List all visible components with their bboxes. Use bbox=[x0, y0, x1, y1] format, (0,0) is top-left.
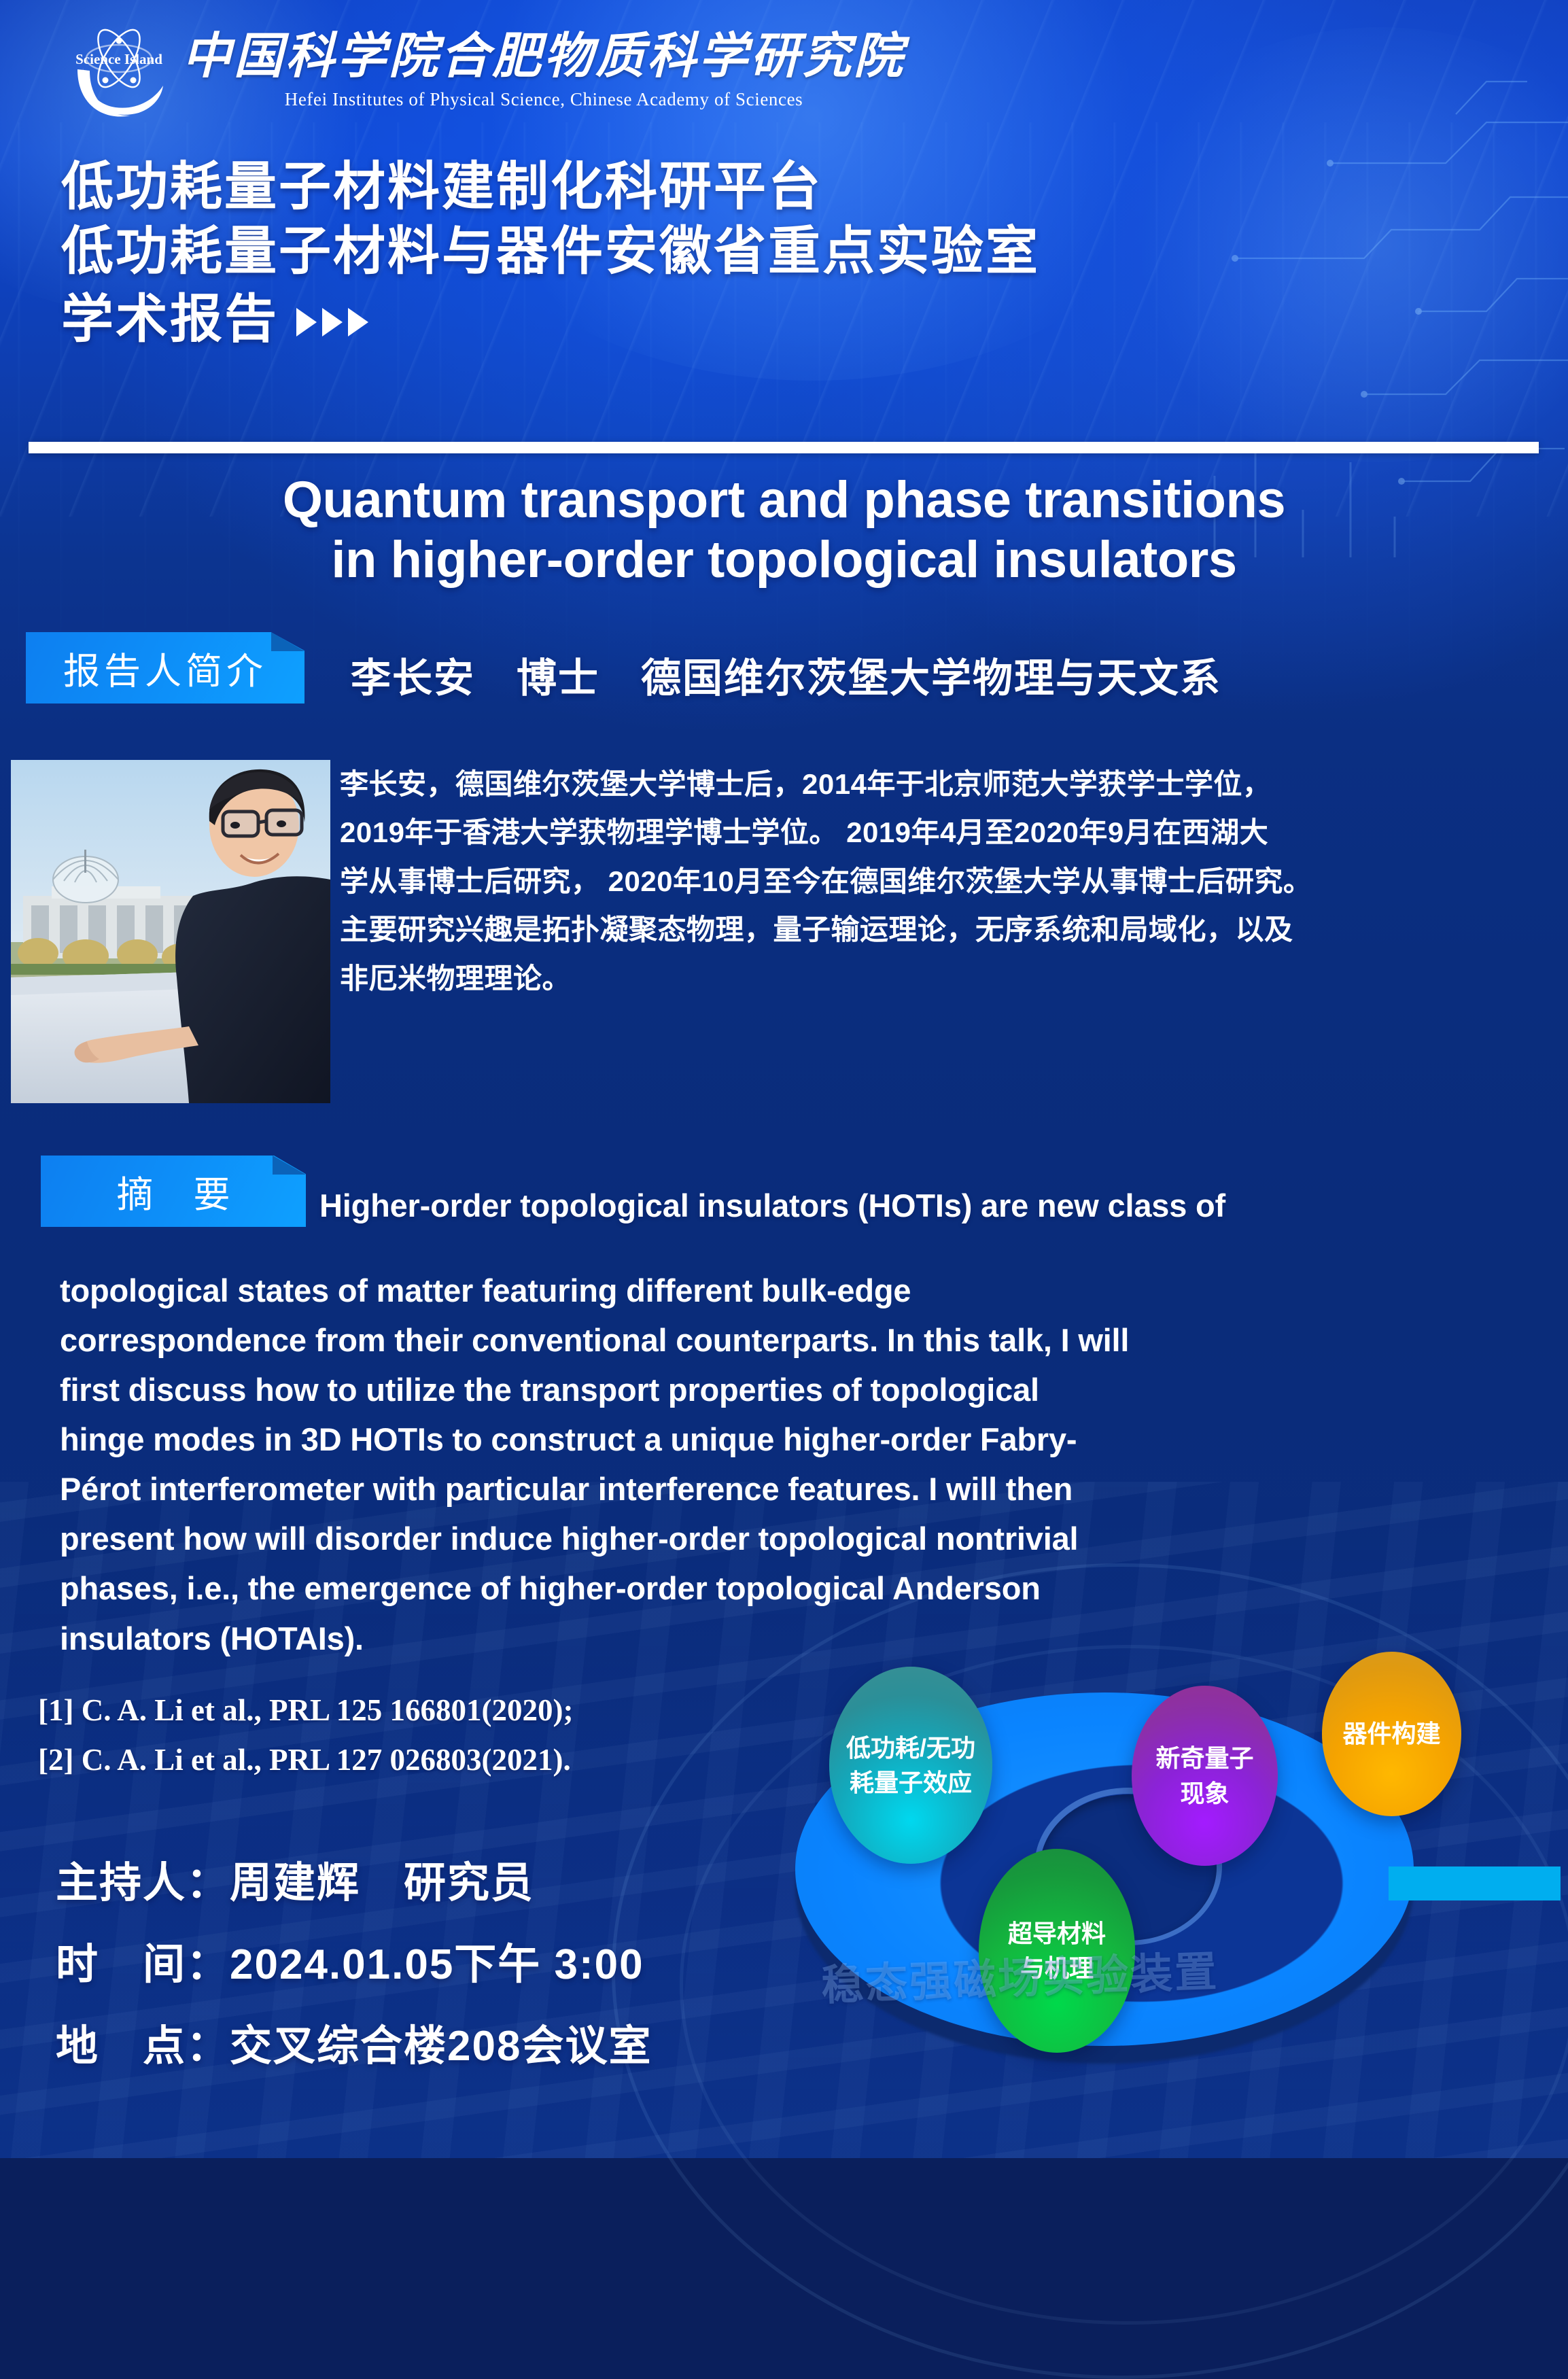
speaker-bio-text: 李长安，德国维尔茨堡大学博士后，2014年于北京师范大学获学士学位， 2019年… bbox=[340, 760, 1458, 1003]
header-divider bbox=[29, 442, 1539, 453]
bio-line-4: 主要研究兴趣是拓扑凝聚态物理，量子输运理论，无序系统和局域化，以及 bbox=[340, 905, 1458, 954]
bubble-teal-line-1: 低功耗/无功 bbox=[846, 1731, 975, 1765]
bubble-teal-line-2: 耗量子效应 bbox=[850, 1765, 972, 1800]
abstract-line-1-text: topological states of matter featuring d… bbox=[60, 1266, 911, 1315]
bubble-purple-line-1: 新奇量子 bbox=[1155, 1741, 1253, 1775]
accent-bar bbox=[1389, 1866, 1561, 1900]
talk-title: Quantum transport and phase transitions … bbox=[0, 470, 1568, 590]
event-host: 主持人：周建辉 研究员 bbox=[56, 1862, 939, 1905]
event-info: 主持人：周建辉 研究员 时 间：2024.01.05下午 3:00 地 点：交叉… bbox=[56, 1862, 939, 2107]
bio-line-5: 非厄米物理理论。 bbox=[340, 954, 1458, 1003]
header-line-3: 学术报告 bbox=[61, 288, 279, 352]
abstract-line-5: Pérot interferometer with particular int… bbox=[60, 1464, 1541, 1514]
header-line-1: 低功耗量子材料建制化科研平台 bbox=[61, 155, 1502, 220]
event-place: 地 点：交叉综合楼208会议室 bbox=[56, 2026, 939, 2068]
abstract-line-3: first discuss how to utilize the transpo… bbox=[60, 1365, 1541, 1414]
institute-name-cn: 中国科学院合肥物质科学研究院 bbox=[182, 31, 905, 83]
speaker-photo bbox=[11, 760, 330, 1103]
abstract-line-6: present how will disorder induce higher-… bbox=[60, 1514, 1541, 1563]
reference-item-2: [2] C. A. Li et al., PRL 127 026803(2021… bbox=[38, 1735, 573, 1785]
bubble-orange-line-1: 器件构建 bbox=[1342, 1716, 1440, 1751]
talk-title-line-1: Quantum transport and phase transitions bbox=[0, 470, 1568, 530]
bio-line-1: 李长安，德国维尔茨堡大学博士后，2014年于北京师范大学获学士学位， bbox=[340, 760, 1458, 808]
topic-bubble-device-construction: 器件构建 bbox=[1322, 1652, 1461, 1816]
event-time: 时 间：2024.01.05下午 3:00 bbox=[56, 1944, 939, 1986]
topic-bubble-novel-quantum-phenomena: 新奇量子 现象 bbox=[1132, 1686, 1278, 1866]
abstract-line-2: correspondence from their conventional c… bbox=[60, 1315, 1541, 1365]
topic-bubble-low-power-quantum-effects: 低功耗/无功 耗量子效应 bbox=[829, 1667, 992, 1864]
reference-list: [1] C. A. Li et al., PRL 125 166801(2020… bbox=[38, 1686, 573, 1785]
section-tab-speaker-bio: 报告人简介 bbox=[26, 632, 304, 704]
section-tab-abstract: 摘 要 bbox=[41, 1156, 306, 1227]
speaker-name-affiliation: 李长安 博士 德国维尔茨堡大学物理与天文系 bbox=[351, 646, 1221, 704]
talk-title-line-2: in higher-order topological insulators bbox=[0, 530, 1568, 590]
logo-badge-text: Science Island bbox=[75, 51, 162, 67]
abstract-line-4: hinge modes in 3D HOTIs to construct a u… bbox=[60, 1414, 1541, 1464]
abstract-first-line: Higher-order topological insulators (HOT… bbox=[319, 1186, 1536, 1225]
section-tab-abstract-label: 摘 要 bbox=[101, 1164, 245, 1218]
bubble-purple-line-2: 现象 bbox=[1180, 1776, 1229, 1811]
triple-chevron-right-icon bbox=[296, 308, 368, 336]
reference-item-1: [1] C. A. Li et al., PRL 125 166801(2020… bbox=[38, 1686, 573, 1735]
speaker-photo-image bbox=[11, 760, 330, 1103]
bio-line-2: 2019年于香港大学获物理学博士学位。 2019年4月至2020年9月在西湖大 bbox=[340, 808, 1458, 856]
institute-logo-block: Science Island 中国科学院合肥物质科学研究院 Hefei Inst… bbox=[73, 20, 905, 121]
poster-header-title: 低功耗量子材料建制化科研平台 低功耗量子材料与器件安徽省重点实验室 学术报告 bbox=[61, 155, 1502, 352]
science-island-logo-icon: Science Island bbox=[73, 20, 164, 121]
bio-line-3: 学从事博士后研究， 2020年10月至今在德国维尔茨堡大学从事博士后研究。 bbox=[340, 857, 1458, 905]
section-tab-speaker-bio-label: 报告人简介 bbox=[63, 641, 267, 695]
header-line-2: 低功耗量子材料与器件安徽省重点实验室 bbox=[61, 220, 1502, 284]
abstract-line-1: topological states of matter featuring d… bbox=[60, 1266, 1541, 1315]
institute-name-en: Hefei Institutes of Physical Science, Ch… bbox=[285, 89, 803, 110]
